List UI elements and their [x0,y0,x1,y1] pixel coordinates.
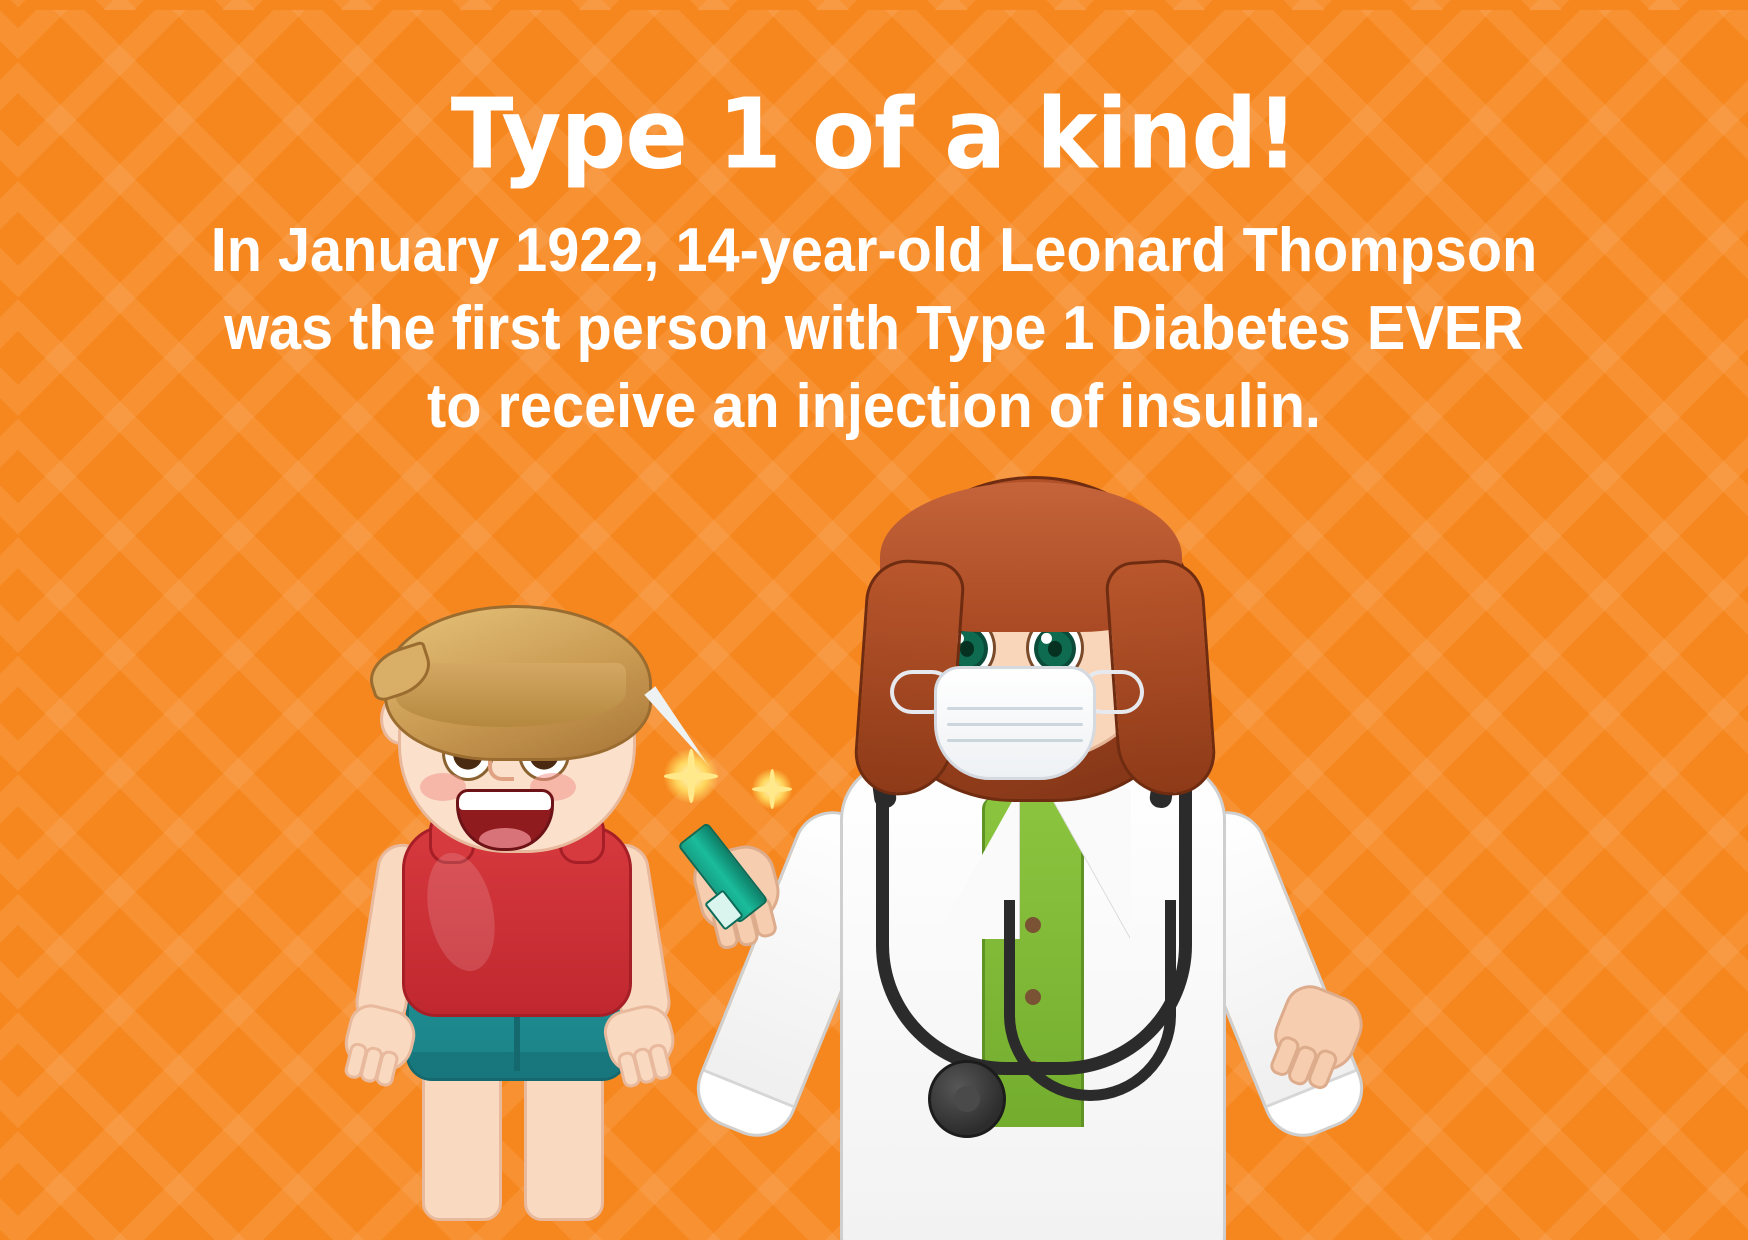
body-text: In January 1922, 14-year-old Leonard Tho… [61,212,1687,446]
boy-tongue [479,828,531,851]
infographic-poster: Type 1 of a kind! In January 1922, 14-ye… [0,0,1748,1240]
doctor-left-cuff [689,1069,794,1145]
sparkle-icon [664,749,718,803]
body-line-2: was the first person with Type 1 Diabete… [61,290,1687,368]
page-title: Type 1 of a kind! [0,86,1748,184]
stethoscope-loop [1004,900,1176,1101]
syringe-illustration [660,735,840,915]
boy-shorts-cuff [409,1052,625,1078]
doctor-right-iris [1034,627,1076,671]
boy-shirt-highlight [417,847,505,978]
stethoscope-chestpiece [928,1060,1006,1138]
boy-red-tank-top [402,825,632,1017]
boy-teeth [459,792,551,810]
surgical-mask [934,666,1096,780]
sparkle-icon [752,769,792,809]
body-line-3: to receive an injection of insulin. [61,368,1687,446]
body-line-1: In January 1922, 14-year-old Leonard Tho… [61,212,1687,290]
text-block: Type 1 of a kind! In January 1922, 14-ye… [0,86,1748,446]
